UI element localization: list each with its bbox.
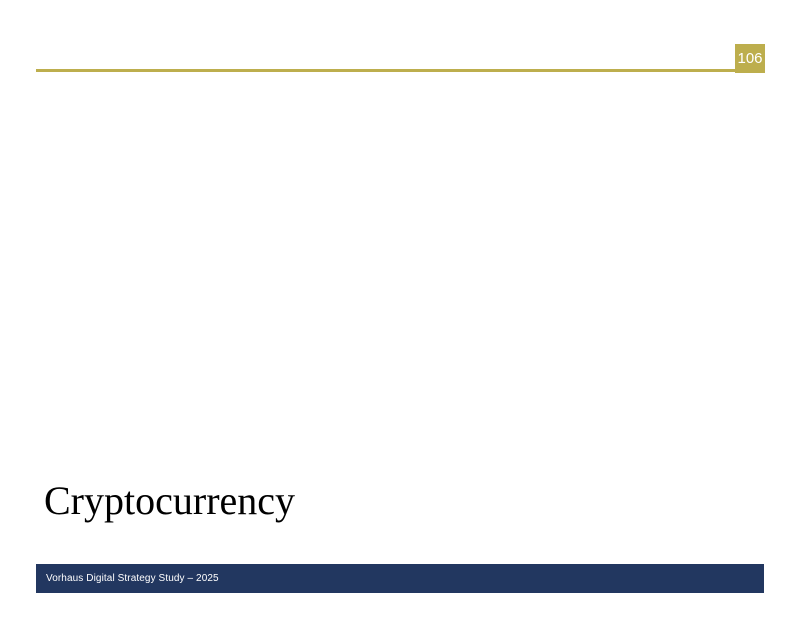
footer-label: Vorhaus Digital Strategy Study – 2025 (36, 574, 219, 584)
page-number-badge: 106 (735, 44, 765, 73)
section-title: Cryptocurrency (44, 478, 295, 524)
header-divider-rule (36, 69, 735, 72)
page-number-label: 106 (737, 51, 762, 66)
slide-canvas: 106 Cryptocurrency Vorhaus Digital Strat… (0, 0, 800, 618)
footer-bar: Vorhaus Digital Strategy Study – 2025 (36, 564, 764, 593)
slide-body: Cryptocurrency (0, 80, 800, 560)
